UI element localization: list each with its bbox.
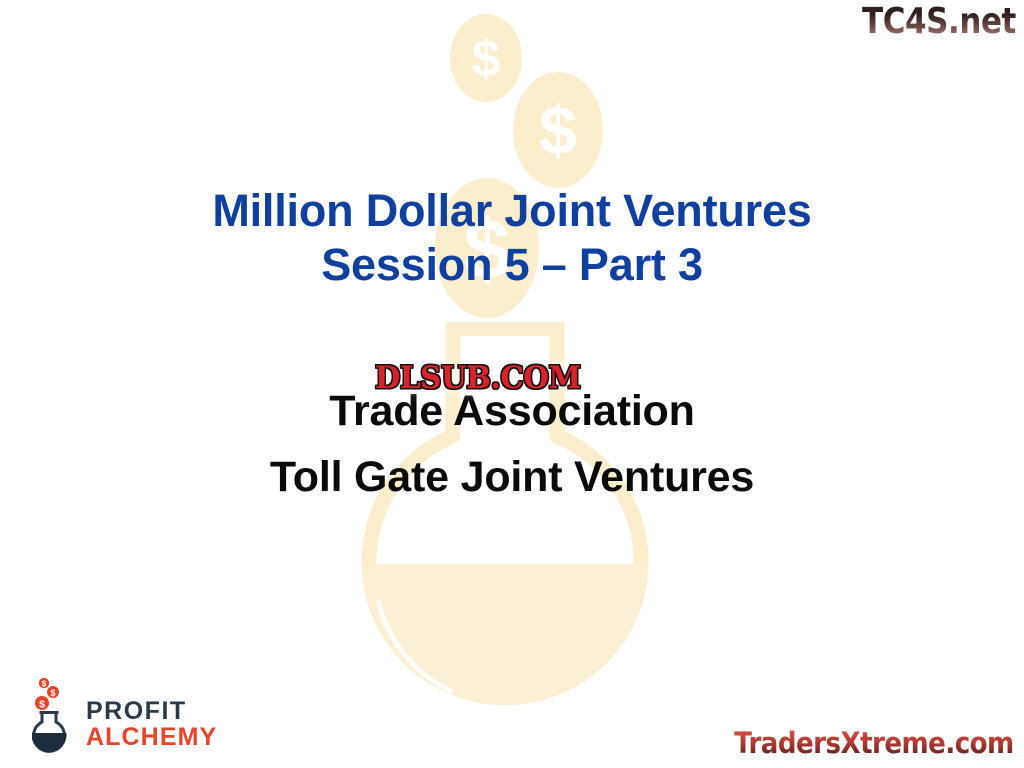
logo-coin-icon-2: $ [47, 686, 59, 698]
profit-alchemy-logo: $ $ $ PROFIT ALCHEMY [22, 676, 217, 754]
profit-alchemy-wordmark: PROFIT ALCHEMY [86, 698, 217, 754]
dlsub-watermark: DLSUB.COM [372, 360, 583, 396]
dlsub-watermark-text: DLSUB.COM [375, 360, 581, 396]
logo-coin-icon-3: $ [39, 678, 49, 689]
subtitle-line-2: Toll Gate Joint Ventures [0, 444, 1024, 510]
profit-alchemy-flask-icon: $ $ $ [22, 676, 80, 754]
logo-coin-icon-1: $ [35, 696, 49, 710]
tc4s-watermark: TC4S.net [862, 2, 1016, 42]
logo-word-alchemy: ALCHEMY [86, 724, 217, 751]
svg-text:$: $ [50, 688, 55, 698]
background-coin-icon-2: $ [513, 72, 603, 188]
title-line-2: Session 5 – Part 3 [0, 238, 1024, 292]
svg-text:$: $ [39, 698, 45, 710]
page-subtitle: Trade Association Toll Gate Joint Ventur… [0, 378, 1024, 510]
presentation-slide: $ $ $ TC4S.net Million Dollar Joint Vent… [0, 0, 1024, 768]
svg-text:$: $ [472, 30, 501, 88]
tradersxtreme-watermark: TradersXtreme.com [734, 726, 1014, 760]
page-title: Million Dollar Joint Ventures Session 5 … [0, 184, 1024, 292]
background-coin-icon-1: $ [450, 14, 522, 102]
logo-word-profit: PROFIT [86, 698, 217, 724]
svg-text:$: $ [539, 93, 577, 169]
title-line-1: Million Dollar Joint Ventures [0, 184, 1024, 238]
svg-text:$: $ [42, 679, 47, 688]
